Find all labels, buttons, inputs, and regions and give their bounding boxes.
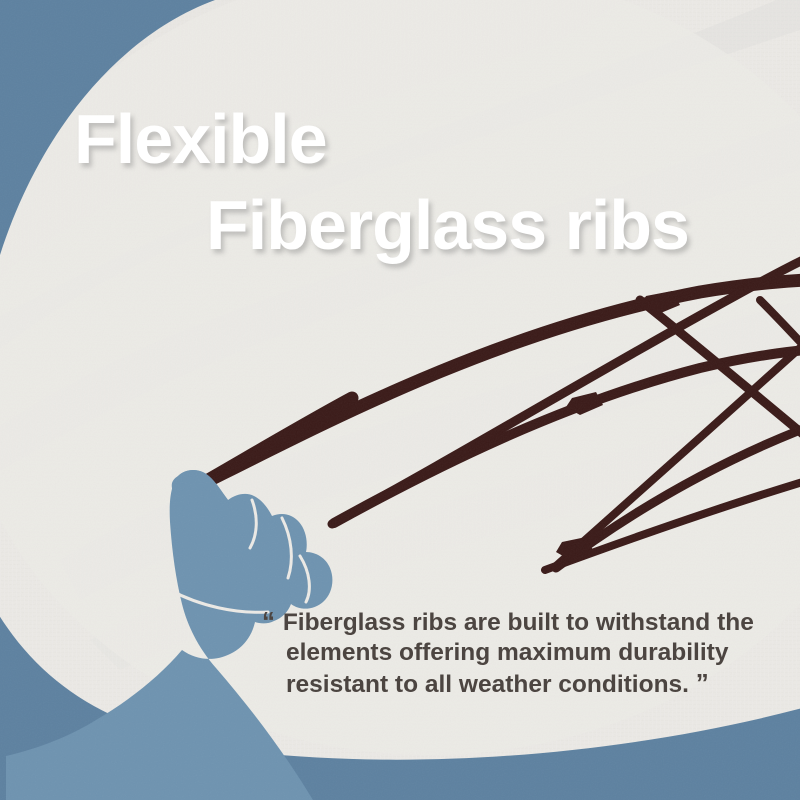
grain-overlay [0,0,800,800]
poster-artwork [0,0,800,800]
poster-canvas: Flexible Fiberglass ribs “ Fiberglass ri… [0,0,800,800]
